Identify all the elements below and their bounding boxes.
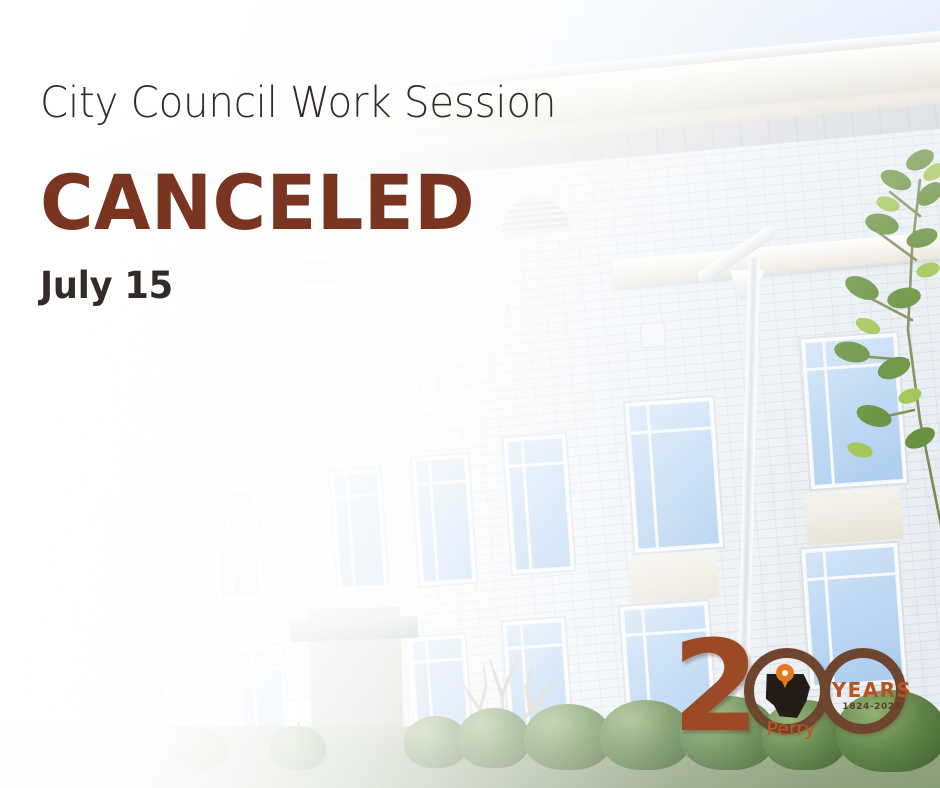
- logo-years-label: YEARS: [824, 678, 920, 702]
- logo-date-range: 1824-2024: [824, 702, 920, 712]
- logo-place-label: Perry: [752, 718, 830, 740]
- perry-bicentennial-logo: 2 Perry YEARS 1824-2024: [672, 636, 924, 744]
- map-pin-icon: [776, 664, 794, 688]
- status-headline: CANCELED: [40, 158, 475, 247]
- announcement-graphic: City Council Work Session CANCELED July …: [0, 0, 940, 788]
- meeting-date: July 15: [40, 264, 173, 307]
- map-pin-dot: [782, 670, 788, 676]
- map-pin-tip: [780, 677, 790, 688]
- meeting-title: City Council Work Session: [40, 78, 556, 128]
